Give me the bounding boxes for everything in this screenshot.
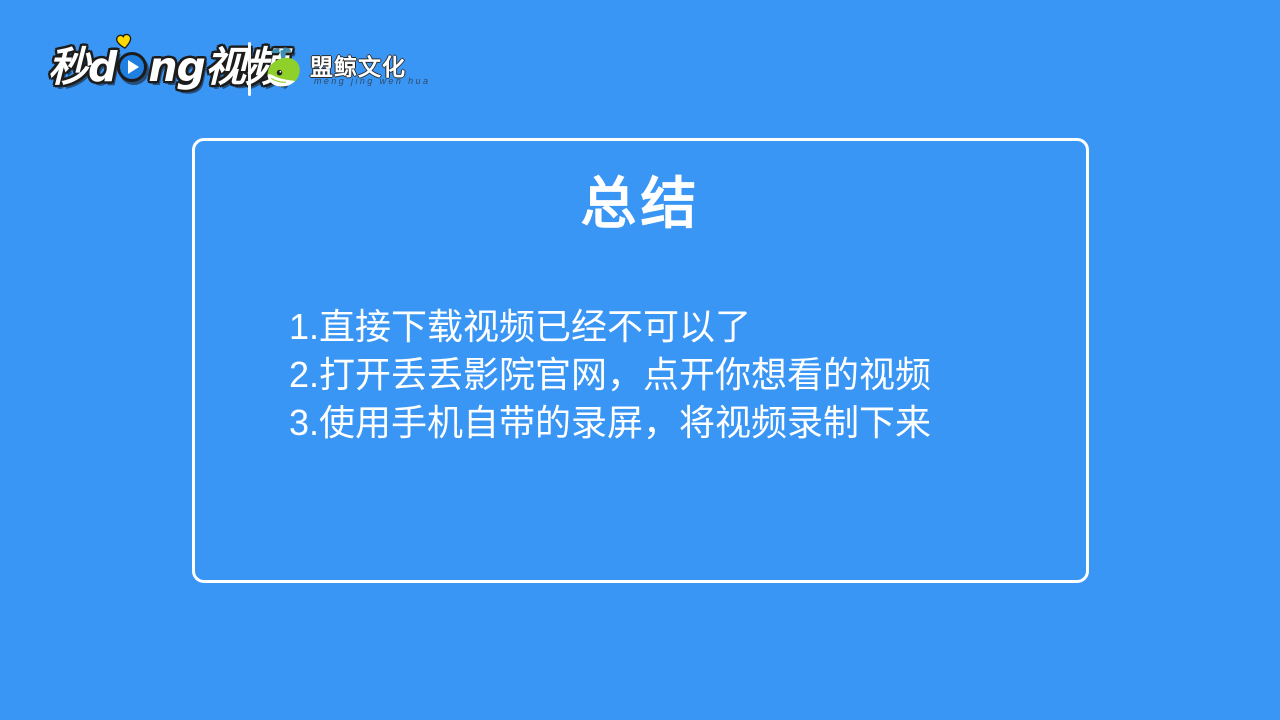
mengjing-wenhua-logo: 盟鲸文化 meng jing wen hua [262,44,432,96]
brand-divider [248,42,251,96]
summary-list: 1.直接下载视频已经不可以了 2.打开丢丢影院官网，点开你想看的视频 3.使用手… [289,303,1049,447]
mengjing-title-pinyin: meng jing wen hua [314,76,430,86]
play-button-o-icon [117,52,147,82]
list-item: 3.使用手机自带的录屏，将视频录制下来 [289,399,1049,447]
brand-text-prefix: 秒d [48,47,116,88]
slide-canvas: 秒d ng视频 [0,0,1280,720]
page-title: 总结 [195,173,1086,235]
list-item: 1.直接下载视频已经不可以了 [289,303,1049,351]
content-frame: 总结 1.直接下载视频已经不可以了 2.打开丢丢影院官网，点开你想看的视频 3.… [192,138,1089,583]
whale-icon [262,46,308,92]
list-item: 2.打开丢丢影院官网，点开你想看的视频 [289,351,1049,399]
play-triangle-icon [128,60,139,74]
heart-icon [115,33,133,50]
slide-header: 秒d ng视频 [0,0,1280,120]
